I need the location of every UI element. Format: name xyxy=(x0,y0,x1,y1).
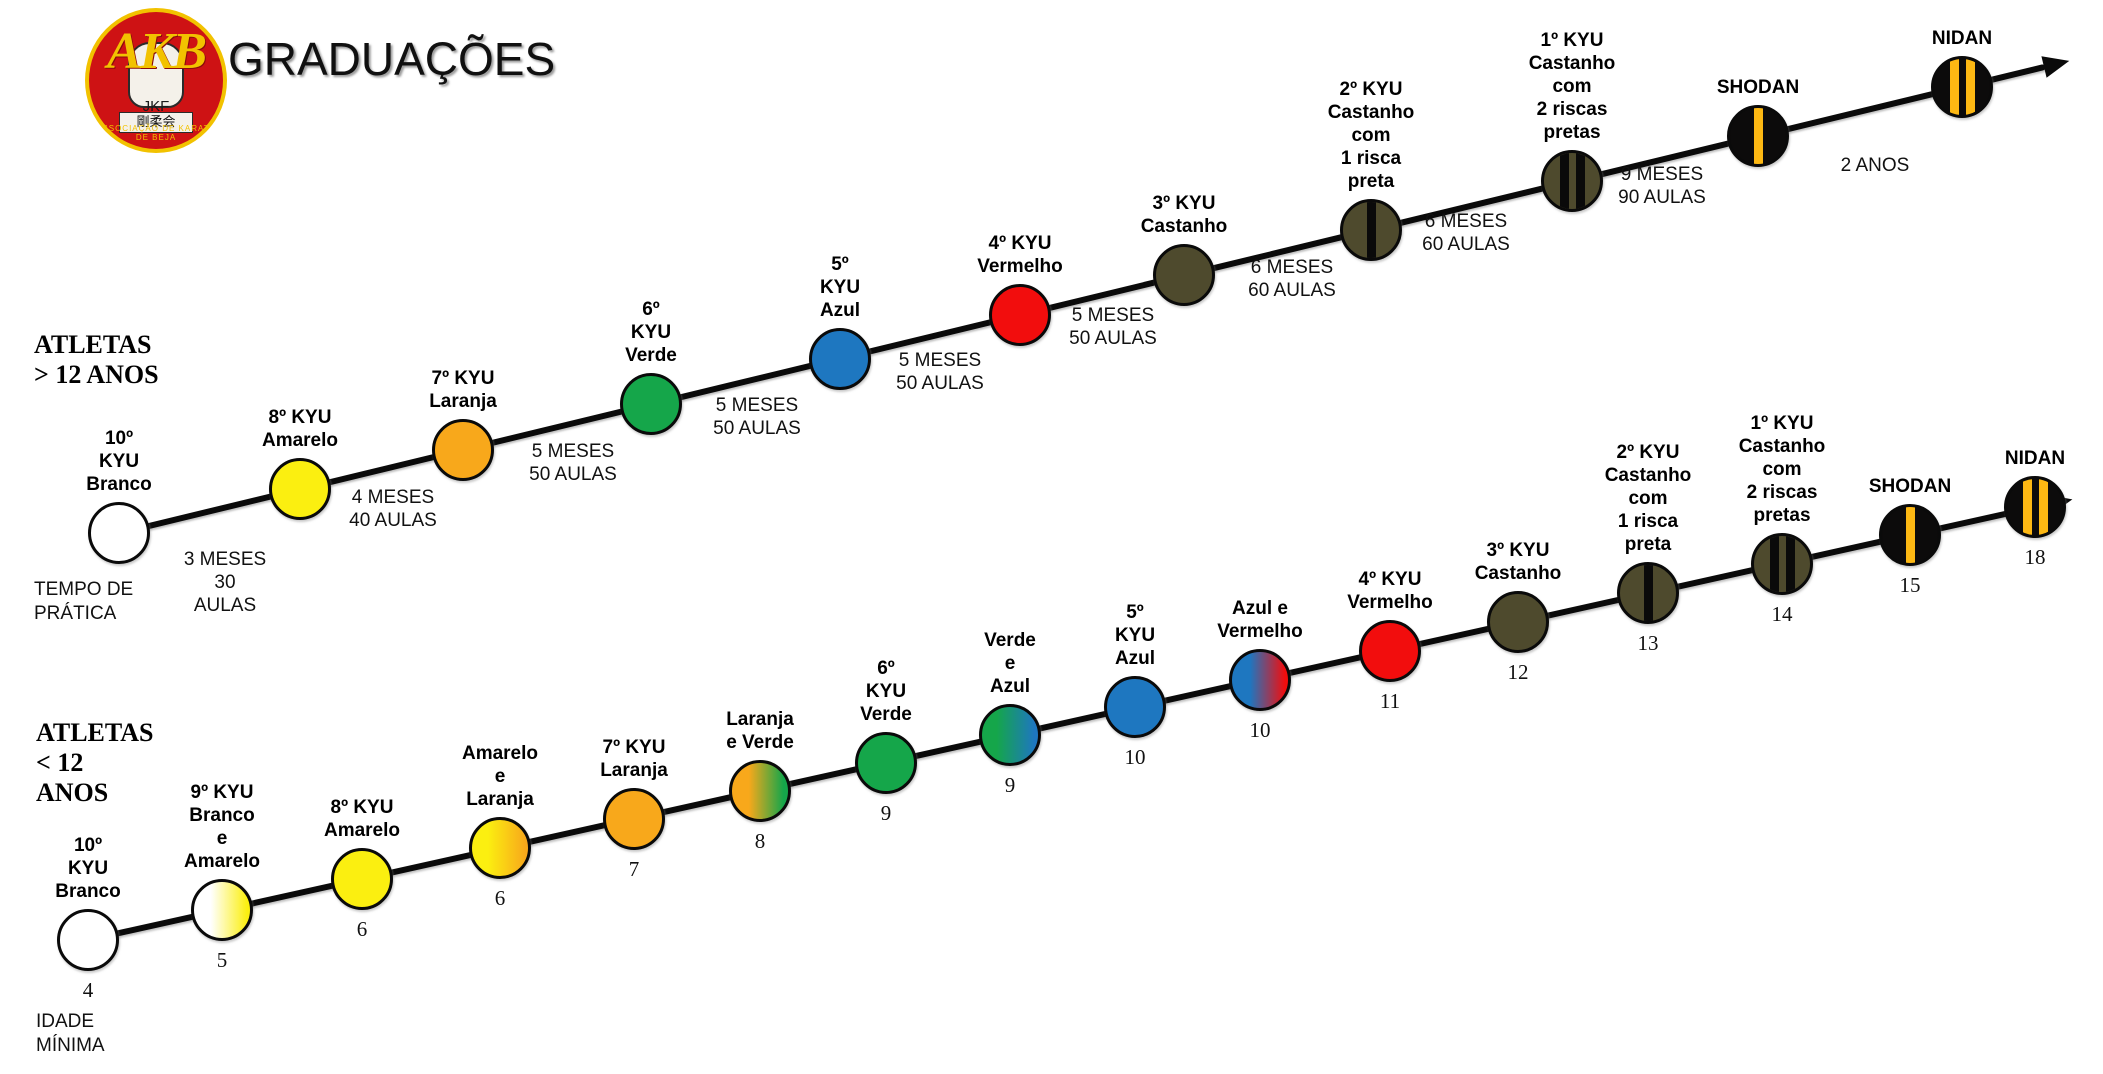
belt-circle-orange-green[interactable] xyxy=(729,760,791,822)
belt-stripe-1 xyxy=(1367,200,1376,260)
belt-circle-brown[interactable] xyxy=(1751,533,1813,595)
graduations-diagram: AKB JKF 剛柔会 ASSOCIAÇÃO DE KARATE DE BEJA… xyxy=(0,0,2103,1074)
belt-node-kids-4[interactable]: 7º KYU Laranja7 xyxy=(603,788,665,850)
belt-node-adults-4[interactable]: 5º KYU Azul xyxy=(809,328,871,390)
belt-label: 8º KYU Amarelo xyxy=(324,796,400,842)
belt-label: Laranja e Verde xyxy=(726,708,794,754)
belt-min-age: 10 xyxy=(1125,745,1146,769)
belt-node-kids-10[interactable]: 4º KYU Vermelho11 xyxy=(1359,620,1421,682)
belt-label: 9º KYU Branco e Amarelo xyxy=(184,781,260,873)
interval-label-adults-6: 6 MESES 60 AULAS xyxy=(1248,256,1336,302)
belt-circle-black[interactable] xyxy=(1879,504,1941,566)
section-heading-kids: ATLETAS < 12 ANOS xyxy=(36,718,154,808)
belt-min-age: 9 xyxy=(881,801,892,825)
belt-label: 4º KYU Vermelho xyxy=(977,232,1063,278)
belt-node-kids-12[interactable]: 2º KYU Castanho com 1 risca preta13 xyxy=(1617,562,1679,624)
belt-node-adults-2[interactable]: 7º KYU Laranja xyxy=(432,419,494,481)
interval-label-adults-5: 5 MESES 50 AULAS xyxy=(1069,304,1157,350)
belt-label: 2º KYU Castanho com 1 risca preta xyxy=(1328,78,1415,193)
belt-label: Azul e Vermelho xyxy=(1217,597,1303,643)
belt-circle-black[interactable] xyxy=(1931,56,1993,118)
belt-circle-brown[interactable] xyxy=(1617,562,1679,624)
belt-node-adults-10[interactable]: NIDAN xyxy=(1931,56,1993,118)
belt-circle-white[interactable] xyxy=(57,909,119,971)
belt-label: 4º KYU Vermelho xyxy=(1347,568,1433,614)
belt-node-kids-1[interactable]: 9º KYU Branco e Amarelo5 xyxy=(191,879,253,941)
akb-logo: AKB JKF 剛柔会 ASSOCIAÇÃO DE KARATE DE BEJA xyxy=(85,8,227,153)
belt-stripe-1 xyxy=(1644,563,1653,623)
belt-label: SHODAN xyxy=(1717,76,1799,99)
belt-label: Amarelo e Laranja xyxy=(462,742,538,811)
interval-label-adults-9: 2 ANOS xyxy=(1841,154,1910,177)
belt-node-kids-15[interactable]: NIDAN18 xyxy=(2004,476,2066,538)
belt-node-adults-1[interactable]: 8º KYU Amarelo xyxy=(269,458,331,520)
belt-label: 7º KYU Laranja xyxy=(429,367,497,413)
belt-circle-green-blue[interactable] xyxy=(979,704,1041,766)
belt-circle-brown[interactable] xyxy=(1487,591,1549,653)
belt-node-kids-9[interactable]: Azul e Vermelho10 xyxy=(1229,649,1291,711)
belt-stripe-1 xyxy=(1950,57,1959,117)
interval-label-adults-2: 5 MESES 50 AULAS xyxy=(529,440,617,486)
belt-circle-yellow-orange[interactable] xyxy=(469,817,531,879)
belt-circle-black[interactable] xyxy=(1727,105,1789,167)
belt-circle-red[interactable] xyxy=(1359,620,1421,682)
belt-node-adults-7[interactable]: 2º KYU Castanho com 1 risca preta xyxy=(1340,199,1402,261)
belt-label: 6º KYU Verde xyxy=(625,298,677,367)
belt-label: NIDAN xyxy=(1932,27,1992,50)
belt-stripe-2 xyxy=(2039,477,2048,537)
belt-node-kids-14[interactable]: SHODAN15 xyxy=(1879,504,1941,566)
belt-node-kids-2[interactable]: 8º KYU Amarelo6 xyxy=(331,848,393,910)
belt-label: 1º KYU Castanho com 2 riscas pretas xyxy=(1739,412,1826,527)
belt-min-age: 6 xyxy=(357,917,368,941)
logo-initials: AKB xyxy=(89,26,223,78)
belt-circle-red[interactable] xyxy=(989,284,1051,346)
belt-min-age: 8 xyxy=(755,829,766,853)
belt-stripe-2 xyxy=(1966,57,1975,117)
belt-min-age: 11 xyxy=(1380,689,1400,713)
section-heading-adults: ATLETAS > 12 ANOS xyxy=(34,330,159,390)
belt-stripe-1 xyxy=(1754,106,1763,166)
belt-node-adults-8[interactable]: 1º KYU Castanho com 2 riscas pretas xyxy=(1541,150,1603,212)
interval-label-adults-1: 4 MESES 40 AULAS xyxy=(349,486,437,532)
belt-node-kids-5[interactable]: Laranja e Verde8 xyxy=(729,760,791,822)
page-title: GRADUAÇÕES xyxy=(228,32,555,86)
belt-circle-brown[interactable] xyxy=(1340,199,1402,261)
belt-min-age: 14 xyxy=(1772,602,1793,626)
interval-label-adults-8: 9 MESES 90 AULAS xyxy=(1618,163,1706,209)
belt-label: 3º KYU Castanho xyxy=(1475,539,1562,585)
logo-association: ASSOCIAÇÃO DE KARATE DE BEJA xyxy=(89,124,223,142)
belt-min-age: 4 xyxy=(83,978,94,1002)
belt-node-adults-3[interactable]: 6º KYU Verde xyxy=(620,373,682,435)
belt-label: Verde e Azul xyxy=(984,629,1036,698)
belt-circle-blue[interactable] xyxy=(809,328,871,390)
interval-label-adults-4: 5 MESES 50 AULAS xyxy=(896,349,984,395)
belt-stripe-2 xyxy=(1576,151,1585,211)
belt-circle-yellow[interactable] xyxy=(269,458,331,520)
belt-min-age: 18 xyxy=(2025,545,2046,569)
belt-label: 3º KYU Castanho xyxy=(1141,192,1228,238)
belt-node-kids-6[interactable]: 6º KYU Verde9 xyxy=(855,732,917,794)
belt-min-age: 10 xyxy=(1250,718,1271,742)
belt-label: 7º KYU Laranja xyxy=(600,736,668,782)
belt-stripe-1 xyxy=(2023,477,2032,537)
belt-stripe-1 xyxy=(1770,534,1779,594)
belt-circle-green[interactable] xyxy=(620,373,682,435)
belt-node-adults-5[interactable]: 4º KYU Vermelho xyxy=(989,284,1051,346)
belt-node-kids-7[interactable]: Verde e Azul9 xyxy=(979,704,1041,766)
belt-stripe-1 xyxy=(1560,151,1569,211)
interval-label-adults-0: 3 MESES 30 AULAS xyxy=(184,548,266,617)
belt-circle-white[interactable] xyxy=(88,502,150,564)
logo-disc: AKB JKF 剛柔会 ASSOCIAÇÃO DE KARATE DE BEJA xyxy=(85,8,227,153)
belt-stripe-2 xyxy=(1786,534,1795,594)
interval-label-adults-3: 5 MESES 50 AULAS xyxy=(713,394,801,440)
belt-min-age: 7 xyxy=(629,857,640,881)
belt-node-adults-0[interactable]: 10º KYU Branco xyxy=(88,502,150,564)
belt-circle-blue[interactable] xyxy=(1104,676,1166,738)
belt-circle-brown[interactable] xyxy=(1541,150,1603,212)
belt-label: 1º KYU Castanho com 2 riscas pretas xyxy=(1529,29,1616,144)
belt-min-age: 9 xyxy=(1005,773,1016,797)
belt-min-age: 13 xyxy=(1638,631,1659,655)
belt-label: 2º KYU Castanho com 1 risca preta xyxy=(1605,441,1692,556)
belt-label: SHODAN xyxy=(1869,475,1951,498)
belt-circle-black[interactable] xyxy=(2004,476,2066,538)
belt-node-adults-6[interactable]: 3º KYU Castanho xyxy=(1153,244,1215,306)
axis-caption-adults: TEMPO DE PRÁTICA xyxy=(34,578,133,626)
interval-label-adults-7: 6 MESES 60 AULAS xyxy=(1422,210,1510,256)
belt-node-kids-3[interactable]: Amarelo e Laranja6 xyxy=(469,817,531,879)
belt-circle-orange[interactable] xyxy=(603,788,665,850)
belt-label: NIDAN xyxy=(2005,447,2065,470)
belt-node-kids-13[interactable]: 1º KYU Castanho com 2 riscas pretas14 xyxy=(1751,533,1813,595)
belt-node-kids-0[interactable]: 10º KYU Branco4 xyxy=(57,909,119,971)
belt-circle-orange[interactable] xyxy=(432,419,494,481)
belt-min-age: 6 xyxy=(495,886,506,910)
belt-circle-blue-red[interactable] xyxy=(1229,649,1291,711)
belt-circle-brown[interactable] xyxy=(1153,244,1215,306)
belt-min-age: 5 xyxy=(217,948,228,972)
belt-label: 8º KYU Amarelo xyxy=(262,406,338,452)
belt-label: 6º KYU Verde xyxy=(860,657,912,726)
belt-min-age: 12 xyxy=(1508,660,1529,684)
belt-node-adults-9[interactable]: SHODAN xyxy=(1727,105,1789,167)
belt-circle-green[interactable] xyxy=(855,732,917,794)
timeline-arrow-adults xyxy=(2041,50,2071,78)
belt-label: 10º KYU Branco xyxy=(55,834,120,903)
belt-stripe-1 xyxy=(1906,505,1915,565)
belt-label: 5º KYU Azul xyxy=(820,253,860,322)
belt-label: 5º KYU Azul xyxy=(1115,601,1155,670)
belt-circle-yellow[interactable] xyxy=(331,848,393,910)
belt-node-kids-11[interactable]: 3º KYU Castanho12 xyxy=(1487,591,1549,653)
belt-min-age: 15 xyxy=(1900,573,1921,597)
belt-circle-white-yellow[interactable] xyxy=(191,879,253,941)
belt-label: 10º KYU Branco xyxy=(86,427,151,496)
axis-caption-kids: IDADE MÍNIMA xyxy=(36,1010,105,1058)
belt-node-kids-8[interactable]: 5º KYU Azul10 xyxy=(1104,676,1166,738)
